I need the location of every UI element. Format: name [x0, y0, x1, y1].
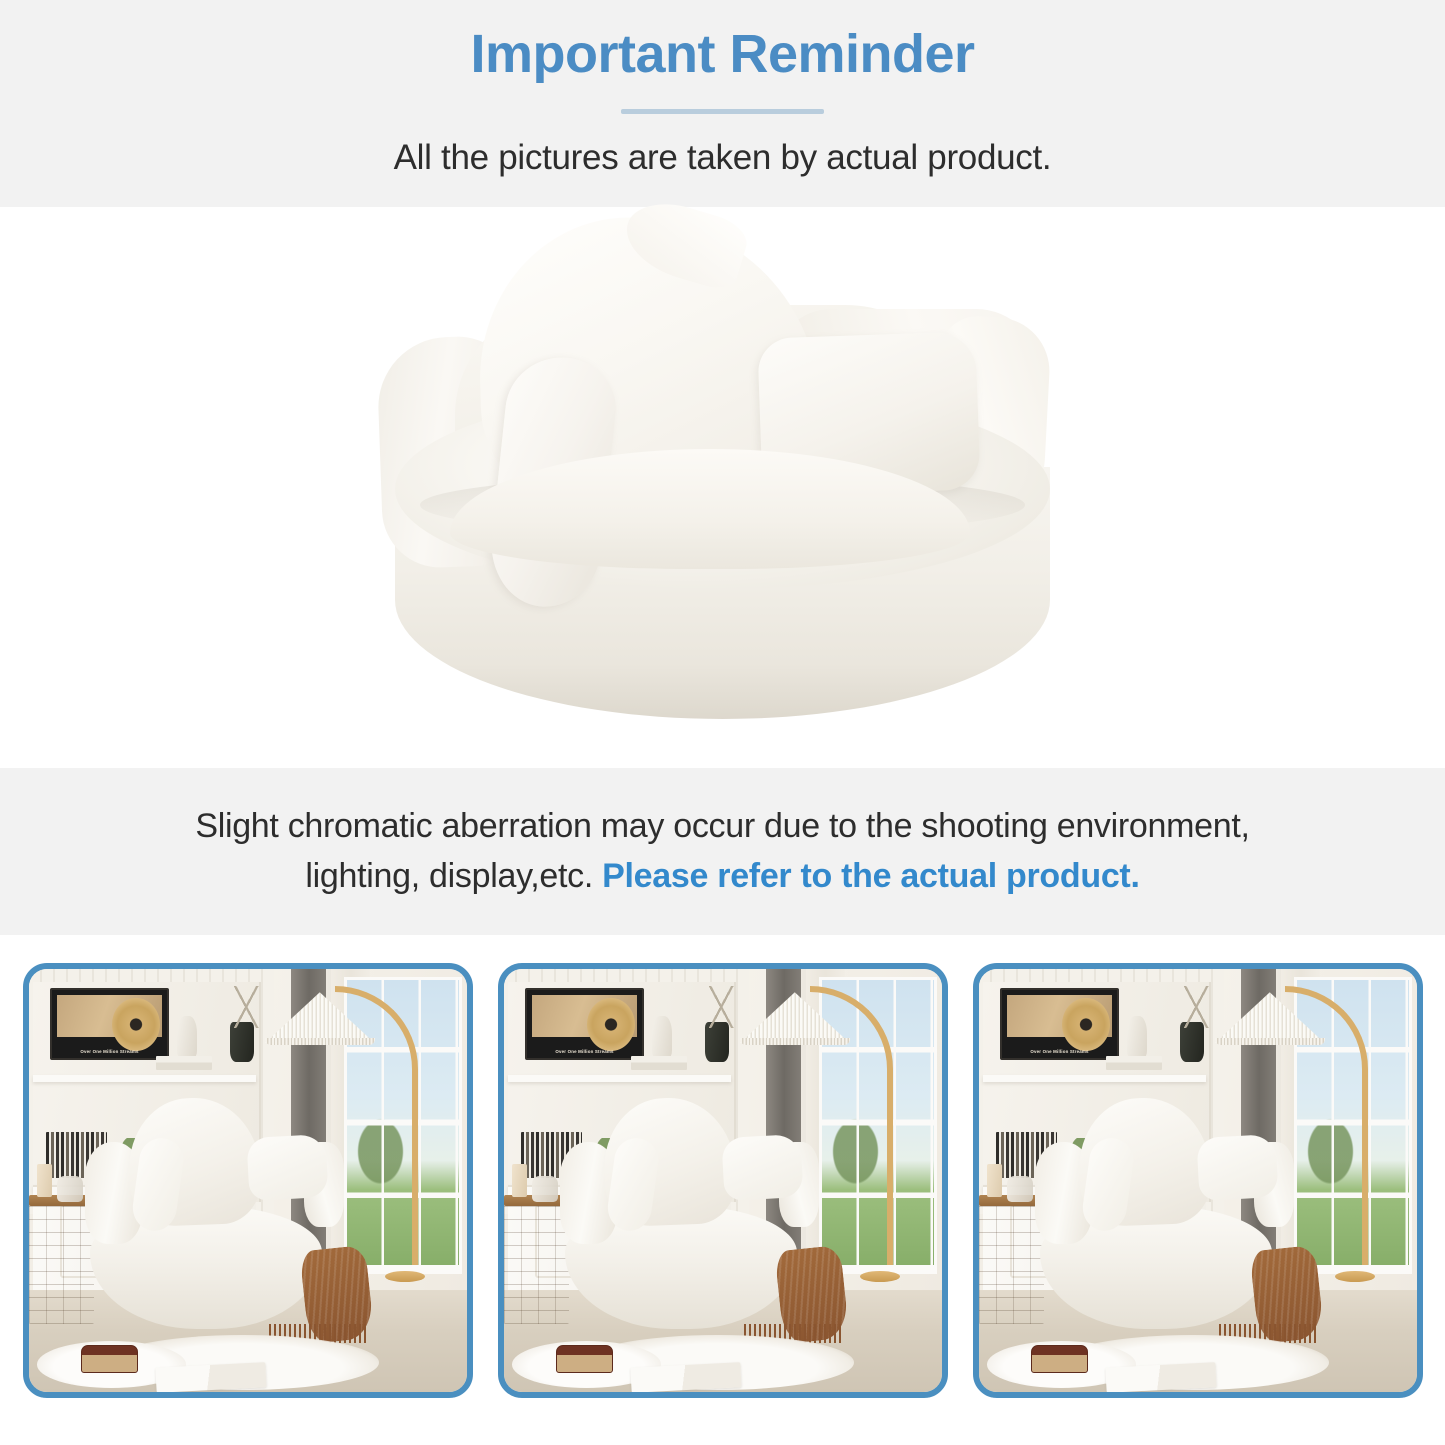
lamp-shade-rim: [740, 1038, 850, 1045]
dried-branch: [701, 986, 745, 1028]
framed-record-poster: Over One Million Streams: [1000, 988, 1118, 1060]
lamp-shade-rim: [265, 1038, 375, 1045]
header-banner: Important Reminder All the pictures are …: [0, 0, 1445, 207]
arc-lamp-base: [1335, 1271, 1374, 1282]
dried-branch: [1176, 986, 1220, 1028]
framed-record-poster: Over One Million Streams: [50, 988, 168, 1060]
room-scene: Over One Million Streams: [979, 969, 1417, 1392]
wooden-side-table: [979, 1202, 1045, 1325]
candle: [512, 1164, 527, 1198]
statue-figurine: [177, 1016, 197, 1058]
shelf-board-upper: [983, 1075, 1206, 1082]
lamp-shade-rim: [1215, 1038, 1325, 1045]
hero-product-image: [360, 217, 1090, 757]
framed-record-poster: Over One Million Streams: [525, 988, 643, 1060]
vintage-radio: [1031, 1345, 1088, 1372]
glass-jar: [1007, 1176, 1033, 1201]
statue-figurine: [652, 1016, 672, 1058]
candle: [37, 1164, 52, 1198]
room-scene: Over One Million Streams: [504, 969, 942, 1392]
page-title: Important Reminder: [470, 27, 974, 81]
photo-gallery: Over One Million Streams: [0, 963, 1445, 1398]
hero-product-section: [0, 207, 1445, 768]
shelf-board-upper: [33, 1075, 256, 1082]
header-subtitle: All the pictures are taken by actual pro…: [394, 138, 1052, 178]
book-stack-upper: [156, 1056, 213, 1070]
statue-figurine: [1127, 1016, 1147, 1058]
wooden-side-table: [29, 1202, 95, 1325]
gallery-photo-3[interactable]: Over One Million Streams: [973, 963, 1423, 1398]
gold-record-icon: [112, 998, 160, 1051]
poster-caption: Over One Million Streams: [1007, 1049, 1112, 1054]
poster-caption: Over One Million Streams: [57, 1049, 162, 1054]
book-stack-upper: [1106, 1056, 1163, 1070]
notice-line-1: Slight chromatic aberration may occur du…: [195, 802, 1249, 851]
notice-accent-text: Please refer to the actual product.: [602, 857, 1139, 895]
chromatic-aberration-notice: Slight chromatic aberration may occur du…: [0, 768, 1445, 935]
vintage-radio: [556, 1345, 613, 1372]
gallery-photo-2[interactable]: Over One Million Streams: [498, 963, 948, 1398]
glass-jar: [532, 1176, 558, 1201]
gold-record-icon: [587, 998, 635, 1051]
poster-caption: Over One Million Streams: [532, 1049, 637, 1054]
vintage-radio: [81, 1345, 138, 1372]
title-divider: [621, 109, 824, 114]
gold-record-icon: [1062, 998, 1110, 1051]
wooden-side-table: [504, 1202, 570, 1325]
gallery-photo-1[interactable]: Over One Million Streams: [23, 963, 473, 1398]
notice-line-2: lighting, display,etc. Please refer to t…: [305, 852, 1139, 901]
shelf-board-upper: [508, 1075, 731, 1082]
book-stack-upper: [631, 1056, 688, 1070]
notice-line-2-plain: lighting, display,etc.: [305, 857, 602, 895]
arc-lamp-base: [860, 1271, 899, 1282]
candle: [987, 1164, 1002, 1198]
dried-branch: [226, 986, 270, 1028]
glass-jar: [57, 1176, 83, 1201]
arc-lamp-base: [385, 1271, 424, 1282]
room-scene: Over One Million Streams: [29, 969, 467, 1392]
